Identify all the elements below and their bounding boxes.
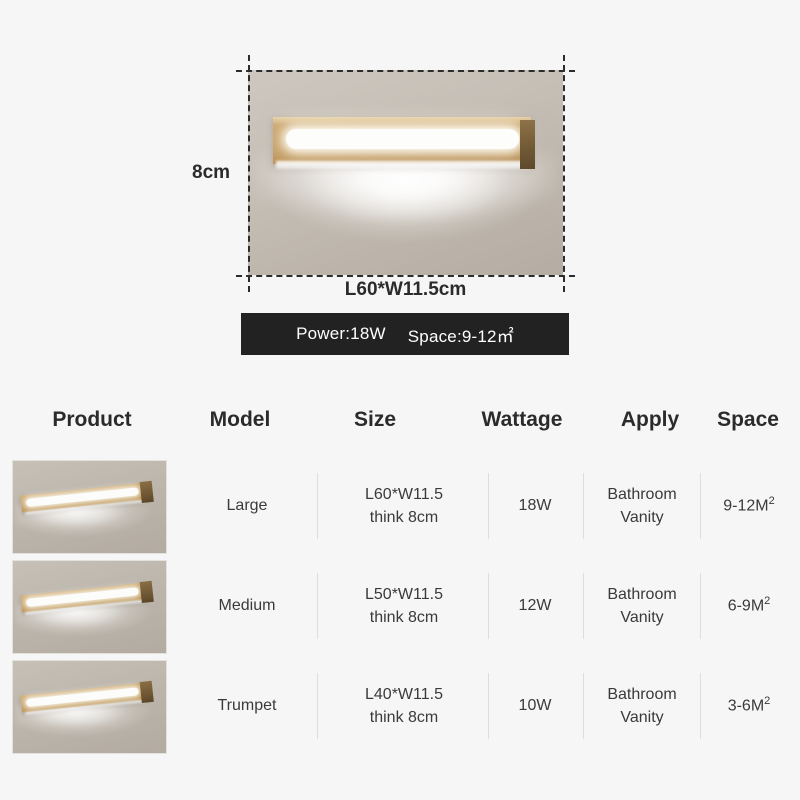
cell-apply-line2: Vanity — [620, 706, 663, 729]
banner-space-label: Space:9-12㎡ — [408, 322, 514, 347]
cell-wattage-text: 18W — [519, 494, 552, 517]
cell-apply-line1: Bathroom — [607, 583, 676, 606]
cell-model-text: Trumpet — [218, 694, 277, 717]
spec-table: Product Model Size Wattage Apply Space L… — [0, 408, 800, 756]
cell-space: 9-12M2 — [703, 456, 795, 556]
column-divider — [488, 673, 489, 739]
column-header-space: Space — [702, 408, 794, 432]
thumb-mount-bracket — [140, 481, 153, 503]
cell-apply: Bathroom Vanity — [586, 656, 698, 756]
thumb-mount-bracket — [140, 581, 153, 603]
column-header-product: Product — [12, 408, 172, 432]
cell-wattage-text: 12W — [519, 594, 552, 617]
product-thumbnail[interactable] — [12, 460, 167, 554]
cell-model: Trumpet — [183, 656, 311, 756]
cell-space-superscript: 2 — [764, 595, 770, 607]
cell-size: L40*W11.5 think 8cm — [325, 656, 483, 756]
cell-size-line1: L60*W11.5 — [365, 483, 443, 506]
cell-wattage-text: 10W — [519, 694, 552, 717]
column-divider — [488, 473, 489, 539]
column-divider — [317, 673, 318, 739]
lamp-led-strip — [286, 129, 518, 149]
column-divider — [317, 473, 318, 539]
cell-space-value: 3-6M — [728, 698, 764, 715]
cell-model: Large — [183, 456, 311, 556]
cell-space-text: 3-6M2 — [728, 694, 771, 718]
column-divider — [700, 573, 701, 639]
lamp-top-highlight — [273, 117, 531, 125]
column-header-wattage: Wattage — [462, 408, 582, 432]
wall-glow — [267, 160, 544, 267]
cell-space-value: 6-9M — [728, 598, 764, 615]
cell-apply-line1: Bathroom — [607, 483, 676, 506]
column-divider — [583, 473, 584, 539]
hero-product-photo — [248, 70, 563, 275]
lamp-body — [273, 117, 531, 164]
cell-space: 6-9M2 — [703, 556, 795, 656]
column-header-size: Size — [325, 408, 425, 432]
cell-space-superscript: 2 — [764, 695, 770, 707]
cell-size-line1: L50*W11.5 — [365, 583, 443, 606]
product-thumbnail[interactable] — [12, 660, 167, 754]
cell-model-text: Large — [227, 494, 268, 517]
cell-space: 3-6M2 — [703, 656, 795, 756]
cell-model: Medium — [183, 556, 311, 656]
cell-size-line2: think 8cm — [370, 606, 438, 629]
cell-wattage: 18W — [490, 456, 580, 556]
cell-wattage: 10W — [490, 656, 580, 756]
product-thumbnail[interactable] — [12, 560, 167, 654]
cell-space-text: 9-12M2 — [723, 494, 774, 518]
table-header-row: Product Model Size Wattage Apply Space — [0, 408, 800, 456]
cell-model-text: Medium — [219, 594, 276, 617]
cell-size-line2: think 8cm — [370, 506, 438, 529]
table-row: Medium L50*W11.5 think 8cm 12W Bathroom … — [0, 556, 800, 656]
cell-wattage: 12W — [490, 556, 580, 656]
cell-apply-line1: Bathroom — [607, 683, 676, 706]
width-dimension-label: L60*W11.5cm — [248, 279, 563, 301]
column-divider — [317, 573, 318, 639]
height-dimension-label: 8cm — [192, 162, 230, 184]
column-divider — [488, 573, 489, 639]
cell-size-line2: think 8cm — [370, 706, 438, 729]
column-divider — [700, 473, 701, 539]
cell-size-line1: L40*W11.5 — [365, 683, 443, 706]
cell-size: L60*W11.5 think 8cm — [325, 456, 483, 556]
column-divider — [583, 673, 584, 739]
column-header-model: Model — [180, 408, 300, 432]
hero-section: 8cm L60*W11.5cm Power:18W Space:9-12㎡ — [0, 0, 800, 390]
cell-space-value: 9-12M — [723, 498, 768, 515]
dimension-guide-top — [236, 70, 575, 72]
column-header-apply: Apply — [600, 408, 700, 432]
lamp-bottom-lip — [276, 161, 529, 169]
cell-apply-line2: Vanity — [620, 606, 663, 629]
banner-power-label: Power:18W — [296, 324, 386, 344]
cell-space-superscript: 2 — [769, 495, 775, 507]
dimension-guide-left — [248, 55, 250, 292]
table-row: Large L60*W11.5 think 8cm 18W Bathroom V… — [0, 456, 800, 556]
thumb-mount-bracket — [140, 681, 153, 703]
lamp-mount-bracket — [520, 120, 535, 169]
spec-banner: Power:18W Space:9-12㎡ — [241, 313, 569, 355]
cell-space-text: 6-9M2 — [728, 594, 771, 618]
cell-apply-line2: Vanity — [620, 506, 663, 529]
column-divider — [583, 573, 584, 639]
cell-size: L50*W11.5 think 8cm — [325, 556, 483, 656]
cell-apply: Bathroom Vanity — [586, 556, 698, 656]
cell-apply: Bathroom Vanity — [586, 456, 698, 556]
dimension-guide-right — [563, 55, 565, 292]
dimension-guide-bottom — [236, 275, 575, 277]
table-row: Trumpet L40*W11.5 think 8cm 10W Bathroom… — [0, 656, 800, 756]
column-divider — [700, 673, 701, 739]
